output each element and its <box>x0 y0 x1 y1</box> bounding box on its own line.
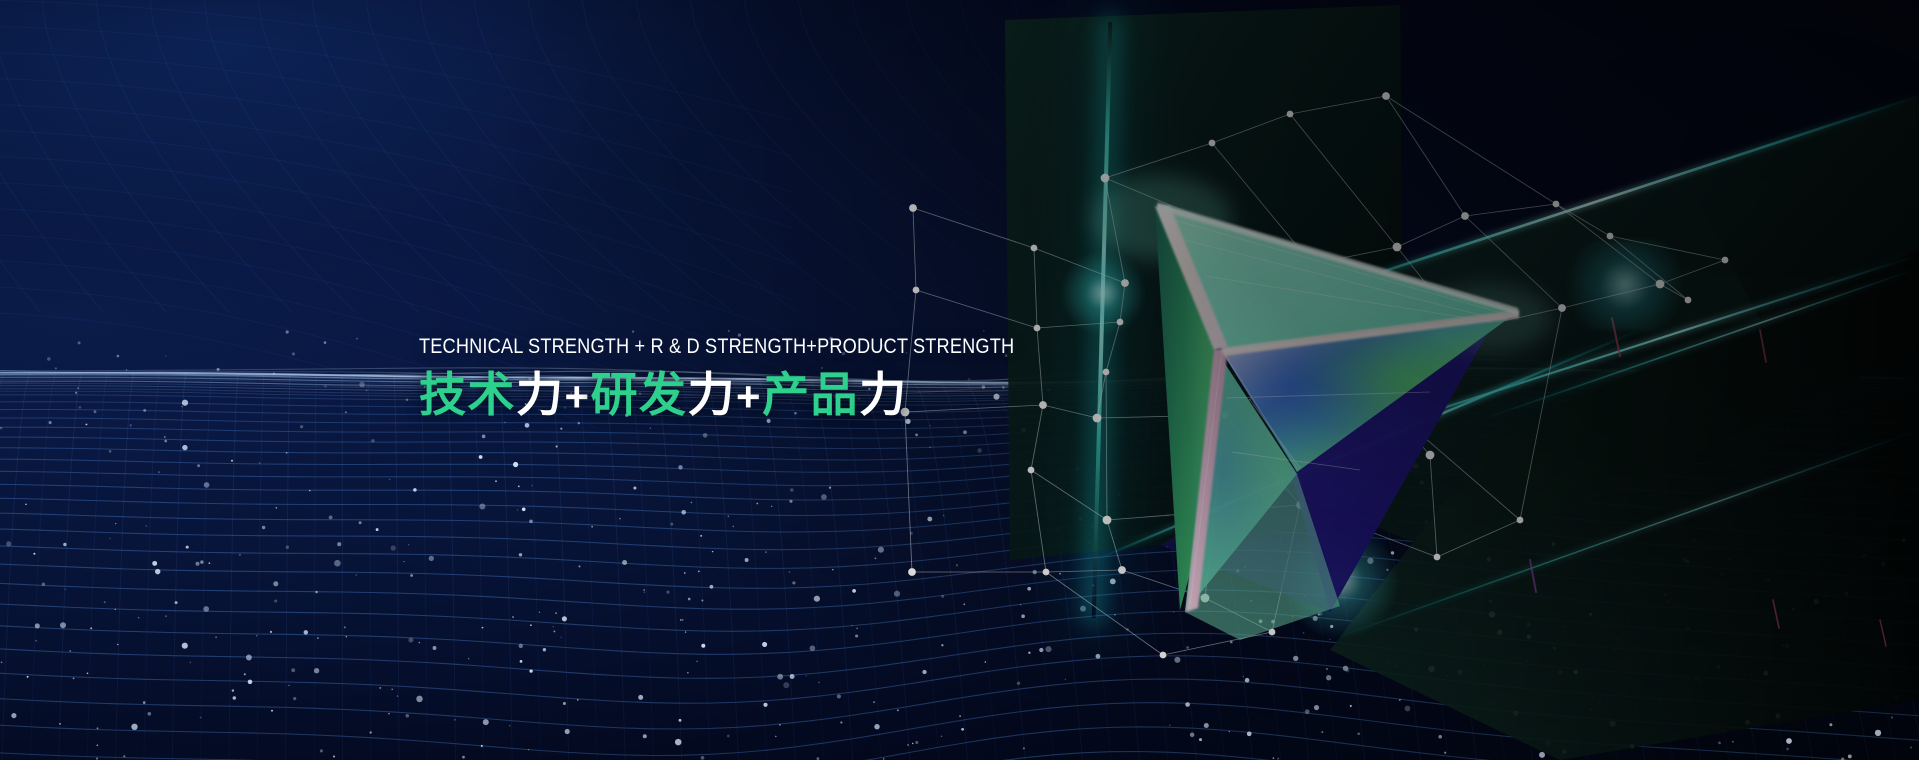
headline-seg-li-1: 力 <box>516 368 565 423</box>
headline-seg-rd: 研发 <box>591 368 688 423</box>
headline-seg-product: 产品 <box>762 368 859 423</box>
headline-plus-1: + <box>565 373 591 420</box>
headline-block: TECHNICAL STRENGTH + R & D STRENGTH+PROD… <box>419 336 1059 421</box>
english-tagline: TECHNICAL STRENGTH + R & D STRENGTH+PROD… <box>419 336 960 358</box>
headline-seg-li-3: 力 <box>859 368 908 423</box>
chinese-headline: 技术力+研发力+产品力 <box>419 371 1059 422</box>
headline-seg-tech: 技术 <box>419 368 516 423</box>
headline-plus-2: + <box>736 373 762 420</box>
headline-seg-li-2: 力 <box>688 368 737 423</box>
hero-banner: TECHNICAL STRENGTH + R & D STRENGTH+PROD… <box>0 0 1919 760</box>
